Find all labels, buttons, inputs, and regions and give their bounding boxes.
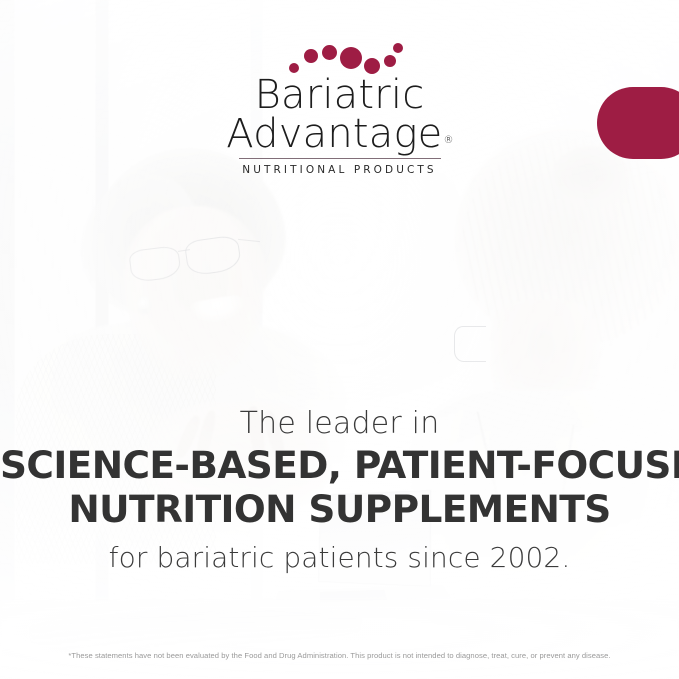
brand-banner: Bariatric Advantage® NUTRITIONAL PRODUCT…: [0, 0, 679, 679]
photo-white-overlay-vertical: [0, 0, 679, 679]
brand-accent-pill: [597, 87, 679, 159]
background-photo: [0, 0, 679, 679]
